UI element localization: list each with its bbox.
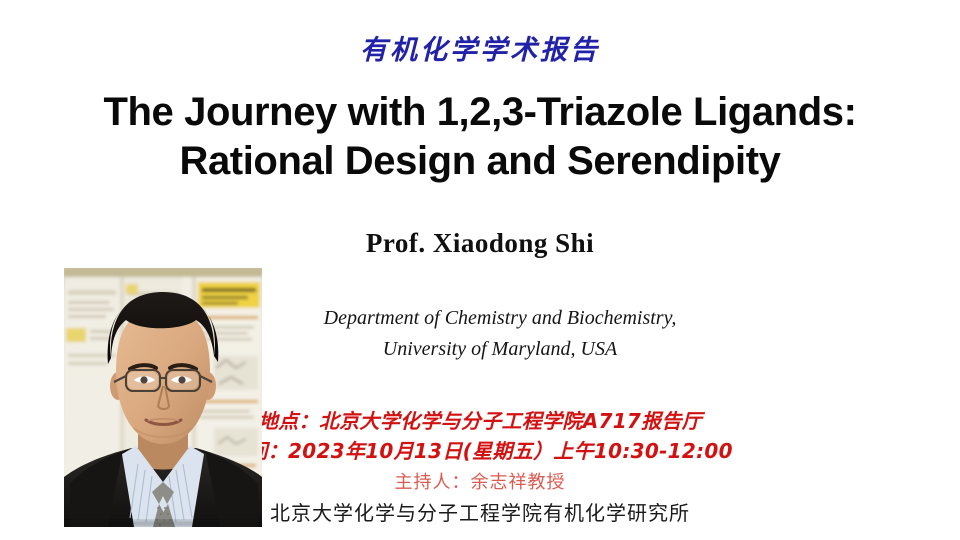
speaker-affiliation: Department of Chemistry and Biochemistry… (240, 303, 760, 365)
speaker-photo (64, 268, 262, 527)
affiliation-line-1: Department of Chemistry and Biochemistry… (240, 303, 760, 334)
speaker-portrait-graphic (64, 268, 262, 527)
seminar-poster: 有机化学学术报告 The Journey with 1,2,3-Triazole… (0, 0, 960, 540)
talk-title-line-2: Rational Design and Serendipity (0, 137, 960, 186)
talk-title-line-1: The Journey with 1,2,3-Triazole Ligands: (0, 88, 960, 137)
seminar-series-header: 有机化学学术报告 (0, 28, 960, 67)
affiliation-line-2: University of Maryland, USA (240, 334, 760, 365)
speaker-name: Prof. Xiaodong Shi (0, 228, 960, 259)
talk-title: The Journey with 1,2,3-Triazole Ligands:… (0, 88, 960, 186)
